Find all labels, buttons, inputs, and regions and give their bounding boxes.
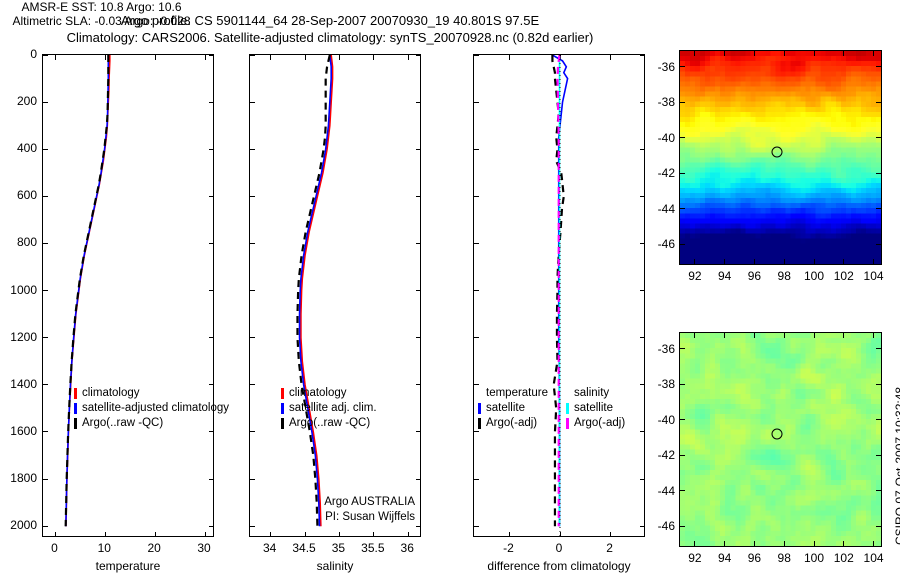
legend-swatch xyxy=(478,403,481,414)
map-xtick xyxy=(873,259,874,264)
legend-label: Argo(..raw -QC) xyxy=(82,416,163,431)
legend-entry: satellite xyxy=(478,401,548,416)
map-ytick xyxy=(876,208,881,209)
legend-entry: Argo(..raw -QC) xyxy=(74,416,229,431)
map-xticklabel: 92 xyxy=(688,551,701,565)
map-ytick xyxy=(680,384,685,385)
yticklabel: 800 xyxy=(17,235,37,249)
legend-entry: Argo(-adj) xyxy=(566,416,625,431)
yticklabel: 1600 xyxy=(10,424,37,438)
legend-column: salinitysatelliteArgo(-adj) xyxy=(566,386,625,431)
map-ytick xyxy=(876,348,881,349)
map-yticklabel: -38 xyxy=(658,377,675,391)
map-xticklabel: 100 xyxy=(804,269,824,283)
map-sla-map[interactable] xyxy=(679,332,882,547)
map-ytick xyxy=(680,208,685,209)
legend-entry: climatology xyxy=(74,386,229,401)
legend-entry: satellite adj. clim. xyxy=(281,401,377,416)
yticklabel: 200 xyxy=(17,94,37,108)
map-xtick xyxy=(814,541,815,546)
xticklabel: 0 xyxy=(51,541,58,555)
map-xtick xyxy=(724,541,725,546)
legend-entry: Argo(..raw -QC) xyxy=(281,416,377,431)
map-ytick xyxy=(680,348,685,349)
map-xtick xyxy=(724,259,725,264)
map-xtick xyxy=(814,333,815,338)
legend-label: satellite xyxy=(486,401,525,416)
map-xticklabel: 102 xyxy=(834,551,854,565)
series-satellite-adjusted-climatology xyxy=(66,55,108,526)
map-xticklabel: 104 xyxy=(864,551,884,565)
legend-temperature: climatologysatellite-adjusted climatolog… xyxy=(74,386,229,431)
xticklabel: 30 xyxy=(197,541,210,555)
map-ytick xyxy=(680,526,685,527)
profile-location-marker xyxy=(771,147,782,158)
yticklabel: 0 xyxy=(30,47,37,61)
map-yticklabel: -36 xyxy=(658,60,675,74)
map-xticklabel: 98 xyxy=(778,551,791,565)
yticklabel: 400 xyxy=(17,141,37,155)
xticklabel: 20 xyxy=(147,541,160,555)
map-xtick xyxy=(843,259,844,264)
xticklabel: 0 xyxy=(556,541,563,555)
credit-line2: PI: Susan Wijffels xyxy=(249,510,415,525)
yticklabel: 1400 xyxy=(10,377,37,391)
page-title: Argo profile: CS 5901144_64 28-Sep-2007 … xyxy=(0,12,660,46)
legend-swatch xyxy=(478,418,481,429)
legend-swatch xyxy=(281,403,284,414)
legend-header: salinity xyxy=(566,386,625,401)
credit-block: Argo AUSTRALIAPI: Susan Wijffels xyxy=(249,495,415,525)
map-xticklabel: 94 xyxy=(718,269,731,283)
map-xtick xyxy=(784,333,785,338)
legend-salinity: climatologysatellite adj. clim.Argo(..ra… xyxy=(281,386,377,431)
map-ytick xyxy=(680,455,685,456)
yticklabel: 1800 xyxy=(10,471,37,485)
legend-swatch xyxy=(566,403,569,414)
legend-label: satellite-adjusted climatology xyxy=(82,401,229,416)
map-xtick xyxy=(784,51,785,56)
xticklabel: 34 xyxy=(263,541,276,555)
map-ytick xyxy=(876,66,881,67)
map-yticklabel: -42 xyxy=(658,448,675,462)
map-ytick xyxy=(876,455,881,456)
legend-header: temperature xyxy=(478,386,548,401)
plot-area-salinity xyxy=(250,55,420,536)
map-sst-map[interactable] xyxy=(679,50,882,265)
map-xtick xyxy=(843,333,844,338)
xticklabel: -2 xyxy=(503,541,514,555)
legend-swatch xyxy=(74,418,77,429)
timestamp-stamp: CSIRO 07-Oct-2007 10:32:48 xyxy=(893,387,900,545)
map-xtick xyxy=(784,259,785,264)
map-ytick xyxy=(876,137,881,138)
legend-label: Argo(-adj) xyxy=(486,416,537,431)
credit-line1: Argo AUSTRALIA xyxy=(249,495,415,510)
legend-difference: temperaturesatelliteArgo(-adj)salinitysa… xyxy=(478,386,625,431)
xticklabel: 34.5 xyxy=(292,541,315,555)
map-ytick xyxy=(876,419,881,420)
map-ytick xyxy=(680,419,685,420)
map-yticklabel: -44 xyxy=(658,202,675,216)
yticklabel: 600 xyxy=(17,188,37,202)
map-xtick xyxy=(724,333,725,338)
profile-location-marker xyxy=(771,429,782,440)
map-xtick xyxy=(754,259,755,264)
legend-swatch xyxy=(566,418,569,429)
legend-column: temperaturesatelliteArgo(-adj) xyxy=(478,386,548,431)
plot-panel-difference xyxy=(473,54,645,537)
map-raster-sla xyxy=(680,333,881,546)
map-yticklabel: -36 xyxy=(658,342,675,356)
map-yticklabel: -44 xyxy=(658,484,675,498)
title-line-1: Argo profile: CS 5901144_64 28-Sep-2007 … xyxy=(0,12,660,29)
legend-label: climatology xyxy=(289,386,347,401)
map-xtick xyxy=(724,51,725,56)
legend-entry: climatology xyxy=(281,386,377,401)
legend-swatch xyxy=(74,403,77,414)
map-xtick xyxy=(784,541,785,546)
legend-entry: Argo(-adj) xyxy=(478,416,548,431)
xticklabel: 2 xyxy=(606,541,613,555)
xticklabel: 35.5 xyxy=(361,541,384,555)
map-ytick xyxy=(876,102,881,103)
map-xtick xyxy=(694,541,695,546)
yticklabel: 2000 xyxy=(10,518,37,532)
series-argo-raw-qc- xyxy=(66,55,109,526)
map-yticklabel: -40 xyxy=(658,413,675,427)
map-ytick xyxy=(876,384,881,385)
plot-area-difference xyxy=(474,55,644,536)
xticklabel: 10 xyxy=(98,541,111,555)
map-yticklabel: -40 xyxy=(658,131,675,145)
map-yticklabel: -42 xyxy=(658,166,675,180)
map-yticklabel: -46 xyxy=(658,237,675,251)
map-ytick xyxy=(680,244,685,245)
axis-label-temperature: temperature xyxy=(96,559,161,573)
map-ytick xyxy=(876,490,881,491)
axis-label-difference: difference from climatology xyxy=(487,559,630,573)
map-ytick xyxy=(680,490,685,491)
yticklabel: 1200 xyxy=(10,330,37,344)
map-xtick xyxy=(814,259,815,264)
map-xtick xyxy=(843,51,844,56)
map-xtick xyxy=(694,51,695,56)
yticklabel: 1000 xyxy=(10,283,37,297)
title-line-2: Climatology: CARS2006. Satellite-adjuste… xyxy=(0,29,660,46)
map-yticklabel: -38 xyxy=(658,95,675,109)
map-ytick xyxy=(876,526,881,527)
series-satellite-adj-clim- xyxy=(300,55,332,526)
map-ytick xyxy=(876,173,881,174)
plot-panel-salinity xyxy=(249,54,421,537)
map-xtick xyxy=(754,51,755,56)
curves-temperature xyxy=(43,55,213,536)
xticklabel: 36 xyxy=(401,541,414,555)
plot-area-temperature xyxy=(43,55,213,536)
map-xtick xyxy=(873,541,874,546)
legend-swatch xyxy=(281,418,284,429)
map-xtick xyxy=(694,333,695,338)
map-xtick xyxy=(754,541,755,546)
map-xticklabel: 98 xyxy=(778,269,791,283)
map-xtick xyxy=(814,51,815,56)
map-yticklabel: -46 xyxy=(658,519,675,533)
legend-entry: satellite-adjusted climatology xyxy=(74,401,229,416)
map-xticklabel: 92 xyxy=(688,269,701,283)
map-xticklabel: 104 xyxy=(864,269,884,283)
map-xtick xyxy=(873,333,874,338)
map-ytick xyxy=(680,66,685,67)
legend-label: Argo(..raw -QC) xyxy=(289,416,370,431)
legend-label: Argo(-adj) xyxy=(574,416,625,431)
map-xticklabel: 102 xyxy=(834,269,854,283)
map-xtick xyxy=(694,259,695,264)
legend-label: satellite xyxy=(574,401,613,416)
curves-difference xyxy=(474,55,644,536)
map-ytick xyxy=(876,244,881,245)
plot-panel-temperature xyxy=(42,54,214,537)
curves-salinity xyxy=(250,55,420,536)
map-xtick xyxy=(843,541,844,546)
map-xticklabel: 96 xyxy=(748,551,761,565)
map-xtick xyxy=(873,51,874,56)
map-xticklabel: 100 xyxy=(804,551,824,565)
map-xtick xyxy=(754,333,755,338)
map-ytick xyxy=(680,102,685,103)
legend-swatch xyxy=(281,388,284,399)
legend-label: satellite adj. clim. xyxy=(289,401,377,416)
axis-label-salinity: salinity xyxy=(317,559,354,573)
map-xticklabel: 96 xyxy=(748,269,761,283)
legend-entry: satellite xyxy=(566,401,625,416)
map-xticklabel: 94 xyxy=(718,551,731,565)
map-ytick xyxy=(680,173,685,174)
legend-label: climatology xyxy=(82,386,140,401)
series-climatology xyxy=(66,55,110,526)
legend-swatch xyxy=(74,388,77,399)
map-ytick xyxy=(680,137,685,138)
xticklabel: 35 xyxy=(332,541,345,555)
map-raster-sst xyxy=(680,51,881,264)
